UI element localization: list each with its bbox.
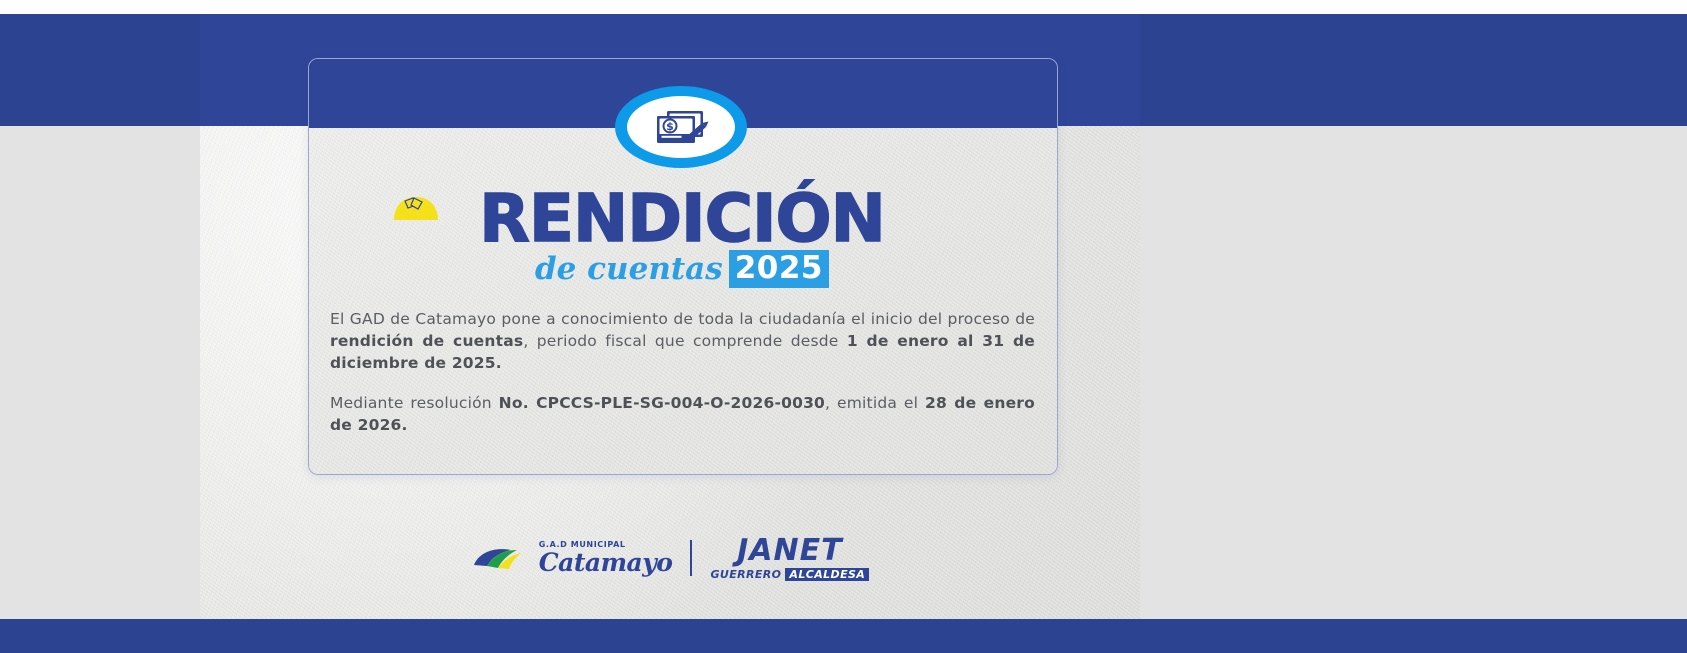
hard-hat-icon	[392, 194, 440, 224]
left-blue-band	[0, 14, 200, 126]
mayor-role-badge: ALCALDESA	[785, 568, 869, 581]
left-grey-band	[0, 126, 200, 619]
flyer-screen: $ RENDICIÓN de cuentas 2025 El GAD de Ca…	[0, 0, 1687, 653]
mayor-first-name: JANET	[737, 536, 842, 566]
right-grey-band	[1140, 126, 1687, 619]
mayor-subtitle-row: GUERRERO ALCALDESA	[710, 568, 869, 581]
gad-text-block: G.A.D MUNICIPAL Catamayo	[539, 541, 673, 575]
mayor-logo: JANET GUERRERO ALCALDESA	[710, 536, 869, 581]
cheque-badge: $	[615, 86, 747, 168]
cheque-with-pen-icon: $	[653, 107, 709, 147]
footer-logos: G.A.D MUNICIPAL Catamayo JANET GUERRERO …	[200, 527, 1140, 589]
mayor-last-name: GUERRERO	[710, 569, 781, 580]
paragraph-1: El GAD de Catamayo pone a conocimiento d…	[330, 308, 1035, 374]
cheque-badge-inner: $	[627, 96, 735, 158]
top-white-strip	[0, 0, 1687, 14]
paragraph-2: Mediante resolución No. CPCCS-PLE-SG-004…	[330, 392, 1035, 436]
announcement-copy: El GAD de Catamayo pone a conocimiento d…	[330, 308, 1035, 436]
headline-block: RENDICIÓN de cuentas 2025	[308, 186, 1056, 288]
subtitle-text: de cuentas	[535, 252, 723, 286]
bottom-blue-band	[0, 619, 1687, 653]
right-blue-band	[1140, 14, 1687, 126]
catamayo-swoosh-logo	[471, 539, 533, 577]
gad-name: Catamayo	[539, 550, 673, 575]
svg-text:$: $	[666, 120, 674, 133]
footer-divider	[690, 540, 692, 576]
gad-catamayo-logo: G.A.D MUNICIPAL Catamayo	[471, 539, 673, 577]
